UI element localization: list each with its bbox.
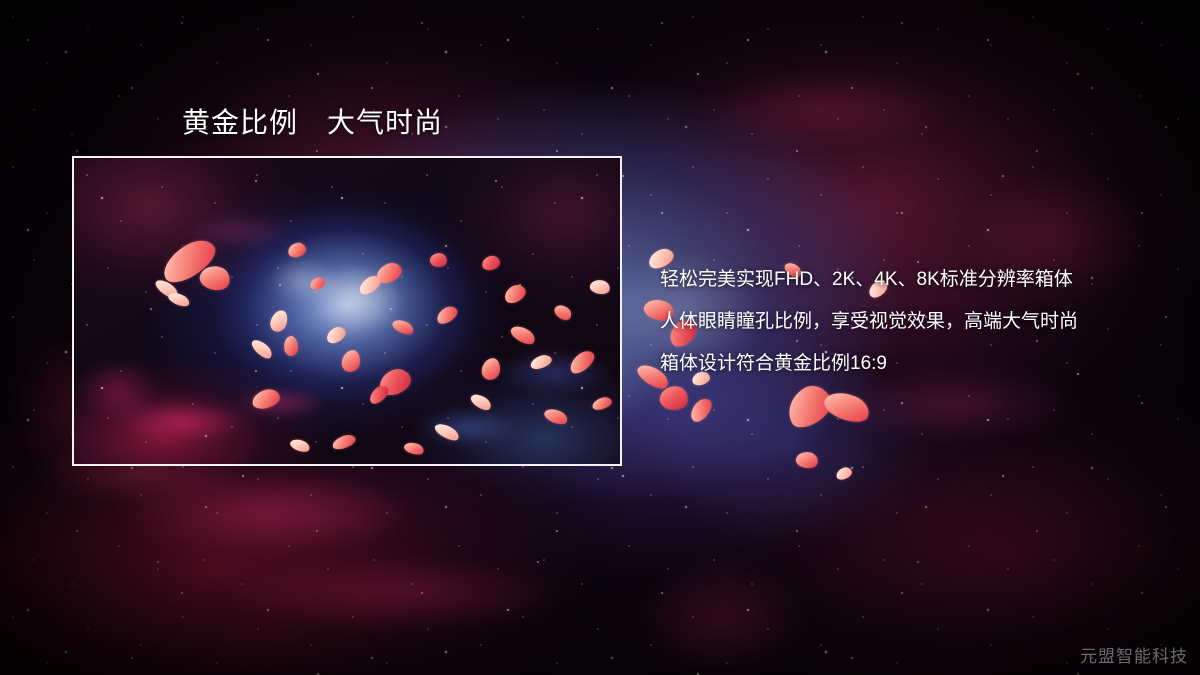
body-copy: 轻松完美实现FHD、2K、4K、8K标准分辨率箱体 人体眼睛瞳孔比例，享受视觉效… — [660, 259, 1160, 385]
page-title: 黄金比例 大气时尚 — [182, 101, 443, 141]
body-line-2: 人体眼睛瞳孔比例，享受视觉效果，高端大气时尚 — [660, 301, 1160, 343]
framed-image — [72, 156, 622, 466]
body-line-1: 轻松完美实现FHD、2K、4K、8K标准分辨率箱体 — [660, 259, 1160, 301]
watermark: 元盟智能科技 — [1080, 642, 1188, 667]
framed-starfield-medium-icon — [74, 158, 620, 464]
slide-canvas: 黄金比例 大气时尚 轻松完美实现FHD、2K、4K、8K标准分辨率箱体 人体眼睛… — [0, 0, 1200, 675]
body-line-3: 箱体设计符合黄金比例16:9 — [660, 343, 1160, 385]
